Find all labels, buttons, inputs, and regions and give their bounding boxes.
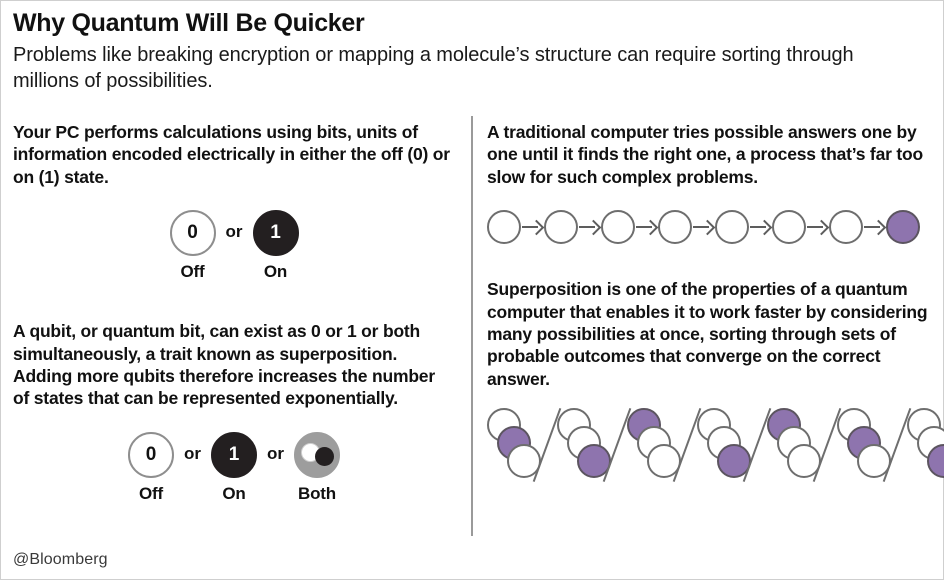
bit-on-circle: 1 [253, 210, 299, 256]
bit-off-label: Off [181, 262, 205, 282]
superposition-group [557, 408, 607, 482]
sequence-node-answer [886, 210, 920, 244]
sequence-node-try [772, 210, 806, 244]
credit-line: @Bloomberg [13, 551, 108, 569]
sequence-node-try [487, 210, 521, 244]
group-separator-icon [677, 408, 697, 482]
right-column: A traditional computer tries possible an… [469, 113, 943, 533]
qubit-both-one-dot [315, 447, 334, 466]
body-columns: Your PC performs calculations using bits… [1, 113, 943, 533]
page-subtitle: Problems like breaking encryption or map… [13, 42, 893, 94]
group-separator-icon [607, 408, 627, 482]
arrow-right-icon [749, 218, 772, 236]
group-separator-icon [537, 408, 557, 482]
arrow-right-icon [635, 218, 658, 236]
group-separator-icon [817, 408, 837, 482]
bit-figure: 0 Off or 1 On [13, 210, 455, 282]
arrow-right-icon [578, 218, 601, 236]
qubit-on-label: On [222, 484, 245, 504]
classical-sequence-figure [487, 210, 929, 244]
qubit-both-label: Both [298, 484, 336, 504]
left-column: Your PC performs calculations using bits… [1, 113, 469, 533]
group-separator-icon [747, 408, 767, 482]
bit-on-label: On [264, 262, 287, 282]
sequence-node-try [829, 210, 863, 244]
qubit-on-glyph: 1 [229, 444, 240, 466]
bit-on-item: 1 On [253, 210, 299, 282]
qubit-connector-or-1: or [184, 432, 201, 476]
infographic-root: Why Quantum Will Be Quicker Problems lik… [0, 0, 944, 580]
superposition-figure [487, 408, 929, 482]
arrow-right-icon [521, 218, 544, 236]
page-title: Why Quantum Will Be Quicker [13, 9, 931, 37]
sequence-node-try [601, 210, 635, 244]
superposition-group [907, 408, 944, 482]
bit-off-glyph: 0 [187, 222, 198, 244]
bit-on-glyph: 1 [270, 222, 281, 244]
qubit-off-circle: 0 [128, 432, 174, 478]
superposition-group [767, 408, 817, 482]
sequence-node-try [715, 210, 749, 244]
qubit-both-circle [294, 432, 340, 478]
qubit-both-item: Both [294, 432, 340, 504]
paragraph-bits: Your PC performs calculations using bits… [13, 121, 455, 188]
qubit-off-glyph: 0 [146, 444, 157, 466]
bit-off-circle: 0 [170, 210, 216, 256]
paragraph-traditional: A traditional computer tries possible an… [487, 121, 929, 188]
sequence-node-try [658, 210, 692, 244]
superposition-group [487, 408, 537, 482]
qubit-connector-or-2: or [267, 432, 284, 476]
arrow-right-icon [692, 218, 715, 236]
arrow-right-icon [806, 218, 829, 236]
superposition-group [627, 408, 677, 482]
bit-off-item: 0 Off [170, 210, 216, 282]
qubit-off-label: Off [139, 484, 163, 504]
qubit-figure: 0 Off or 1 On or Both [13, 432, 455, 504]
arrow-right-icon [863, 218, 886, 236]
qubit-on-circle: 1 [211, 432, 257, 478]
paragraph-superposition: Superposition is one of the properties o… [487, 278, 929, 390]
qubit-on-item: 1 On [211, 432, 257, 504]
header: Why Quantum Will Be Quicker Problems lik… [1, 1, 943, 94]
paragraph-qubits: A qubit, or quantum bit, can exist as 0 … [13, 320, 455, 410]
superposition-group [837, 408, 887, 482]
bit-connector-or-1: or [226, 210, 243, 254]
group-separator-icon [887, 408, 907, 482]
superposition-group [697, 408, 747, 482]
qubit-off-item: 0 Off [128, 432, 174, 504]
sequence-node-try [544, 210, 578, 244]
